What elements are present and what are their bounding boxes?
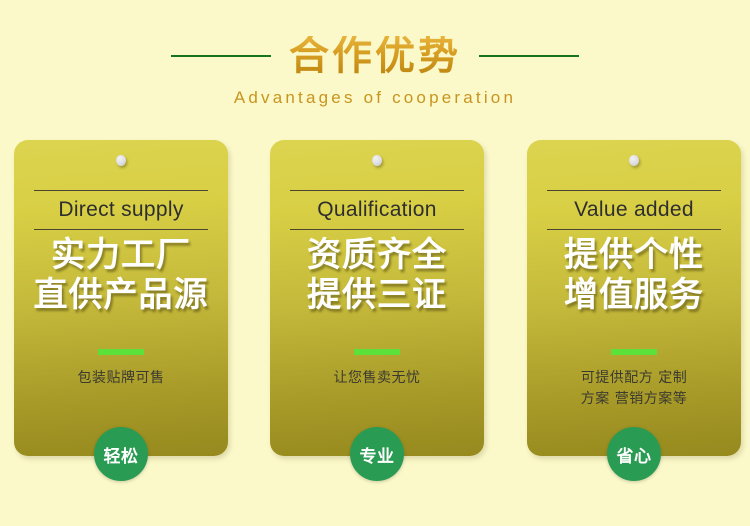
- card-headline-line-2: 提供三证: [270, 275, 484, 315]
- pin-hole-icon: [372, 155, 382, 166]
- card-english-label-wrap: Qualification: [290, 190, 464, 230]
- card-english-label: Direct supply: [58, 198, 183, 222]
- card-headline: 提供个性 增值服务: [527, 235, 741, 315]
- card-caption-line-1: 包装贴牌可售: [14, 368, 228, 389]
- card-caption-line-1: 让您售卖无忧: [270, 368, 484, 389]
- card-english-label-wrap: Value added: [547, 190, 721, 230]
- advantage-card[interactable]: Value added 提供个性 增值服务 可提供配方 定制 方案 营销方案等 …: [527, 140, 741, 456]
- pin-hole-icon: [629, 155, 639, 166]
- card-headline-line-1: 资质齐全: [270, 235, 484, 275]
- card-divider-dash: [98, 349, 144, 355]
- pin-hole-icon: [116, 155, 126, 166]
- page-title: 合作优势: [289, 36, 461, 76]
- card-headline-line-2: 增值服务: [527, 275, 741, 315]
- card-badge[interactable]: 省心: [607, 427, 661, 481]
- card-english-label: Value added: [574, 198, 694, 222]
- card-headline-line-1: 提供个性: [527, 235, 741, 275]
- card-divider-dash: [611, 349, 657, 355]
- card-headline: 实力工厂 直供产品源: [14, 235, 228, 315]
- card-caption-line-2: 方案 营销方案等: [527, 389, 741, 410]
- page-header: 合作优势 Advantages of cooperation: [0, 0, 750, 130]
- advantage-cards: Direct supply 实力工厂 直供产品源 包装贴牌可售 轻松 Quali…: [0, 140, 750, 485]
- advantage-card[interactable]: Direct supply 实力工厂 直供产品源 包装贴牌可售 轻松: [14, 140, 228, 456]
- card-caption: 可提供配方 定制 方案 营销方案等: [527, 368, 741, 410]
- card-divider-dash: [354, 349, 400, 355]
- card-headline: 资质齐全 提供三证: [270, 235, 484, 315]
- title-rule-right: [479, 55, 579, 57]
- advantage-card[interactable]: Qualification 资质齐全 提供三证 让您售卖无忧 专业: [270, 140, 484, 456]
- card-caption: 包装贴牌可售: [14, 368, 228, 389]
- card-badge[interactable]: 轻松: [94, 427, 148, 481]
- card-english-label-wrap: Direct supply: [34, 190, 208, 230]
- card-caption-line-1: 可提供配方 定制: [527, 368, 741, 389]
- card-headline-line-2: 直供产品源: [14, 275, 228, 315]
- card-english-label: Qualification: [317, 198, 436, 222]
- title-rule-left: [171, 55, 271, 57]
- card-headline-line-1: 实力工厂: [14, 235, 228, 275]
- card-badge[interactable]: 专业: [350, 427, 404, 481]
- page-subtitle: Advantages of cooperation: [0, 88, 750, 108]
- card-caption: 让您售卖无忧: [270, 368, 484, 389]
- title-row: 合作优势: [0, 30, 750, 82]
